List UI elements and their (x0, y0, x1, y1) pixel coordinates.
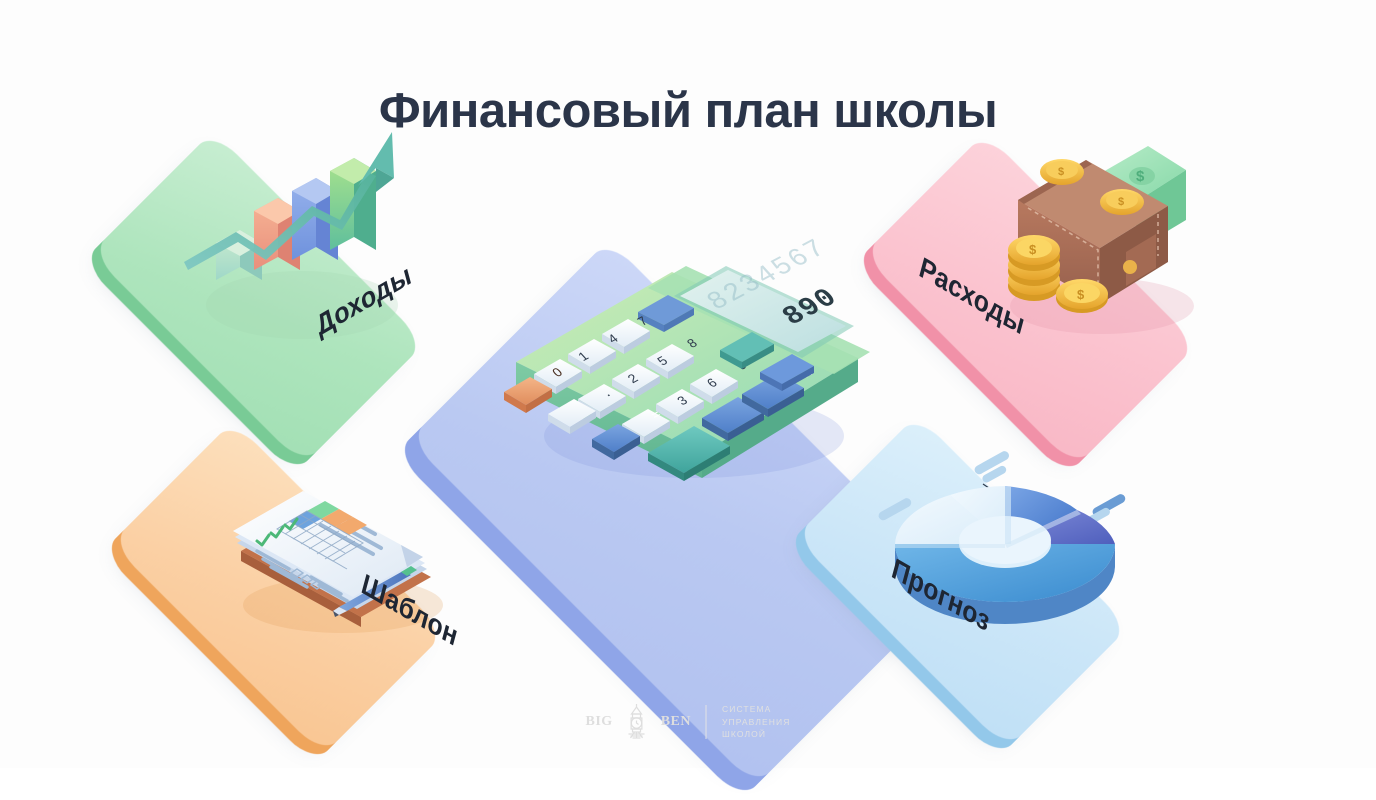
logo-tagline-line-1: СИСТЕМА (722, 704, 791, 715)
infographic-canvas: Финансовый план школы (0, 0, 1376, 768)
svg-text:$: $ (1029, 242, 1037, 257)
coin-stack: $ (1008, 235, 1060, 301)
coin-in-wallet-right: $ (1100, 189, 1144, 215)
svg-text:$: $ (1136, 168, 1145, 185)
calculator-icon: 8234567 890 7 8 (498, 222, 878, 482)
coin-single: $ (1056, 279, 1108, 313)
coin-in-wallet-top: $ (1040, 159, 1084, 185)
logo-word-big: BIG (586, 714, 613, 730)
growth-bar-chart-with-arrow-icon (180, 120, 420, 350)
svg-text:$: $ (1118, 196, 1124, 208)
footer-logo: BIG BEN СИСТЕМА УПРАВЛЕНИЯ ШКОЛОЙ (586, 702, 791, 742)
logo-tagline-line-3: ШКОЛОЙ (722, 729, 791, 740)
clock-tower-icon (624, 702, 650, 742)
logo-tagline-line-2: УПРАВЛЕНИЯ (722, 717, 791, 728)
logo-tagline: СИСТЕМА УПРАВЛЕНИЯ ШКОЛОЙ (722, 704, 791, 740)
svg-text:$: $ (1058, 166, 1064, 178)
svg-text:$: $ (1077, 287, 1085, 302)
logo-divider (706, 705, 707, 739)
logo-word-ben: BEN (661, 714, 691, 730)
